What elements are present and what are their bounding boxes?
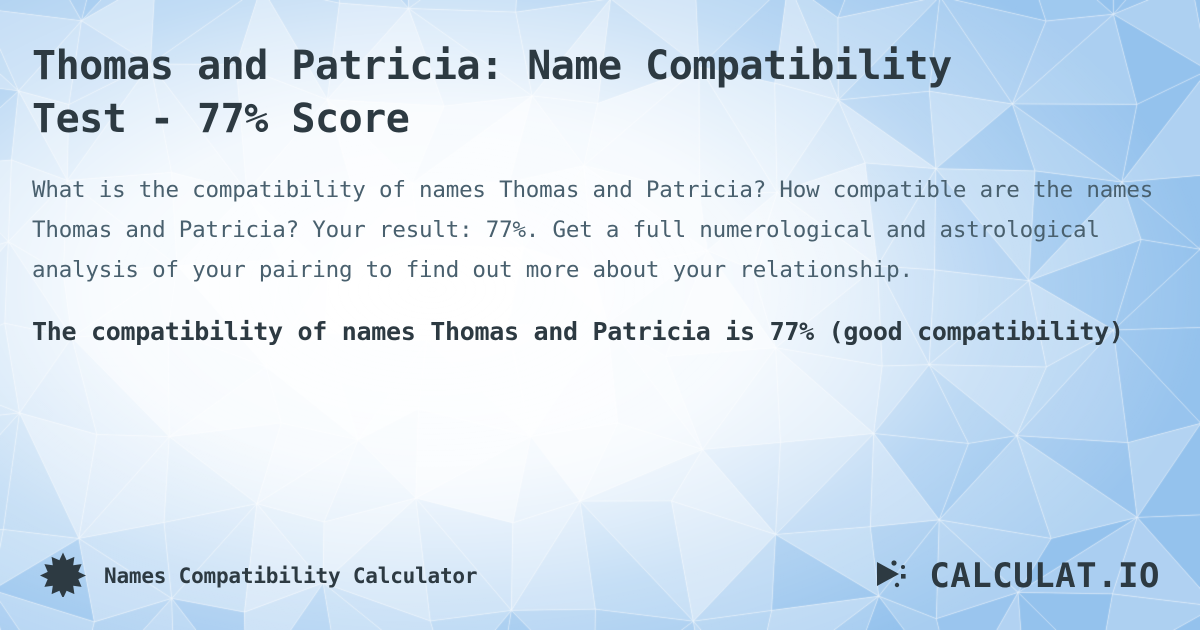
star-burst-icon: [40, 551, 86, 601]
footer-tool: Names Compatibility Calculator: [40, 551, 477, 601]
brand-logo[interactable]: CALCULAT.IO: [873, 554, 1160, 598]
calculatio-mark-icon: [873, 554, 919, 598]
page-description: What is the compatibility of names Thoma…: [32, 170, 1168, 290]
compatibility-result: The compatibility of names Thomas and Pa…: [32, 312, 1152, 353]
footer-tool-label: Names Compatibility Calculator: [104, 564, 477, 588]
brand-text: CALCULAT.IO: [929, 556, 1160, 596]
footer: Names Compatibility Calculator CALCULAT.…: [0, 522, 1200, 630]
page-title: Thomas and Patricia: Name Compatibility …: [32, 40, 1032, 146]
